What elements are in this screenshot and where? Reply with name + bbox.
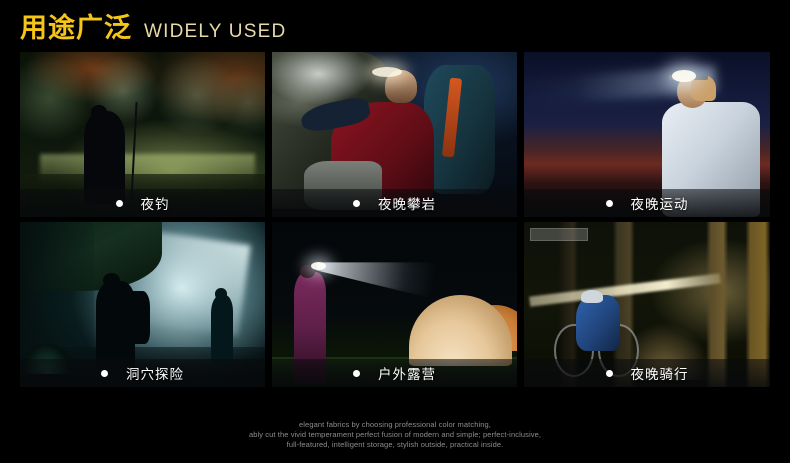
bullet-icon: [606, 370, 613, 377]
footer-line-1: elegant fabrics by choosing professional…: [0, 420, 790, 430]
scenario-label: 户外露营: [378, 363, 436, 383]
scenario-label: 洞穴探险: [126, 363, 184, 383]
scenario-tile-night-cycling[interactable]: 夜晚骑行: [524, 222, 770, 387]
bullet-icon: [101, 370, 108, 377]
scenario-tile-night-exercise[interactable]: 夜晚运动: [524, 52, 770, 217]
caption-bar: 夜晚骑行: [524, 359, 770, 387]
scenario-label: 夜晚攀岩: [378, 193, 436, 213]
bullet-icon: [353, 370, 360, 377]
scenario-tile-night-fishing[interactable]: 夜钓: [20, 52, 265, 217]
footer-line-2: ably cut the vivid temperament perfect f…: [0, 430, 790, 440]
caption-bar: 夜晚运动: [524, 189, 770, 217]
caption-bar: 户外露营: [272, 359, 517, 387]
caption-bar: 夜晚攀岩: [272, 189, 517, 217]
bullet-icon: [353, 200, 360, 207]
scenario-label: 夜晚骑行: [631, 363, 689, 383]
usage-scenario-grid: 夜钓 夜晚攀岩: [20, 52, 770, 387]
scenario-tile-night-rock-climbing[interactable]: 夜晚攀岩: [272, 52, 517, 217]
bullet-icon: [116, 200, 123, 207]
caption-bar: 洞穴探险: [20, 359, 265, 387]
page-title-chinese: 用途广泛: [20, 14, 132, 44]
scenario-tile-cave-exploring[interactable]: 洞穴探险: [20, 222, 265, 387]
caption-bar: 夜钓: [20, 189, 265, 217]
footer-line-3: full-featured, intelligent storage, styl…: [0, 440, 790, 450]
page-title: 用途广泛 WIDELY USED: [20, 14, 286, 50]
footer-description: elegant fabrics by choosing professional…: [0, 420, 790, 450]
page-title-english: WIDELY USED: [144, 17, 286, 47]
watermark-badge: [530, 228, 588, 241]
promo-banner: 用途广泛 WIDELY USED 夜钓: [0, 0, 790, 463]
scenario-label: 夜晚运动: [631, 193, 689, 213]
scenario-tile-outdoor-camping[interactable]: 户外露营: [272, 222, 517, 387]
scenario-label: 夜钓: [141, 193, 170, 213]
bullet-icon: [606, 200, 613, 207]
